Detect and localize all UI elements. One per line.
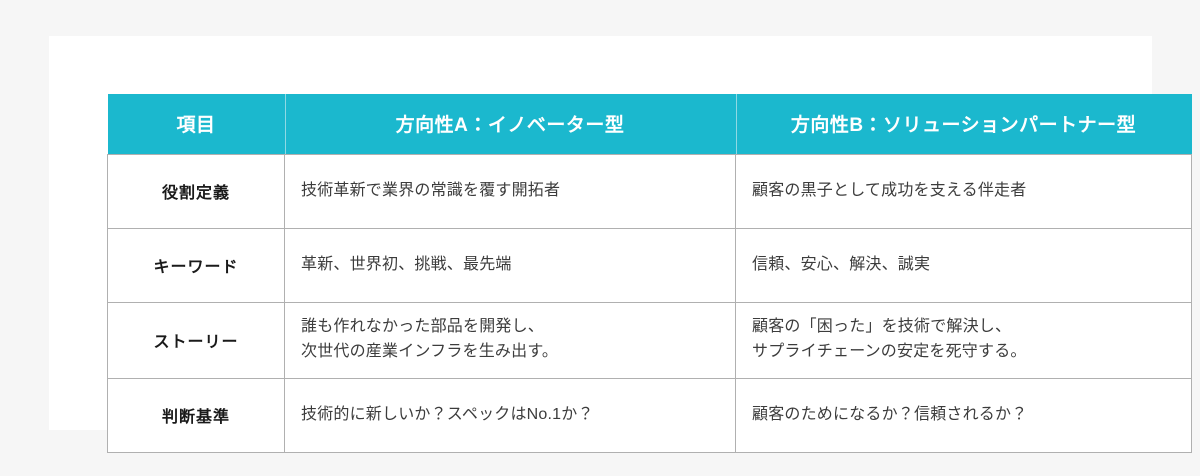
cell-story-a: 誰も作れなかった部品を開発し、 次世代の産業インフラを生み出す。 bbox=[285, 302, 736, 378]
row-label-role-definition: 役割定義 bbox=[108, 154, 285, 228]
comparison-table-container: 項目 方向性A：イノベーター型 方向性B：ソリューションパートナー型 役割定義 … bbox=[107, 94, 1191, 453]
table-row: 役割定義 技術革新で業界の常識を覆す開拓者 顧客の黒子として成功を支える伴走者 bbox=[108, 154, 1192, 228]
cell-line: 顧客のためになるか？信頼されるか？ bbox=[752, 403, 1175, 428]
column-header-direction-a: 方向性A：イノベーター型 bbox=[285, 94, 736, 154]
row-label-keyword: キーワード bbox=[108, 228, 285, 302]
table-header: 項目 方向性A：イノベーター型 方向性B：ソリューションパートナー型 bbox=[108, 94, 1192, 154]
cell-line: 誰も作れなかった部品を開発し、 bbox=[301, 315, 719, 340]
cell-line: 技術革新で業界の常識を覆す開拓者 bbox=[301, 179, 719, 204]
cell-judgement-criteria-b: 顧客のためになるか？信頼されるか？ bbox=[736, 378, 1192, 452]
column-header-direction-b: 方向性B：ソリューションパートナー型 bbox=[736, 94, 1192, 154]
cell-line: 技術的に新しいか？スペックはNo.1か？ bbox=[301, 403, 719, 428]
cell-keyword-a: 革新、世界初、挑戦、最先端 bbox=[285, 228, 736, 302]
cell-line: 革新、世界初、挑戦、最先端 bbox=[301, 253, 719, 278]
cell-keyword-b: 信頼、安心、解決、誠実 bbox=[736, 228, 1192, 302]
table-row: 判断基準 技術的に新しいか？スペックはNo.1か？ 顧客のためになるか？信頼され… bbox=[108, 378, 1192, 452]
content-card: 項目 方向性A：イノベーター型 方向性B：ソリューションパートナー型 役割定義 … bbox=[49, 36, 1152, 430]
cell-line: 顧客の「困った」を技術で解決し、 bbox=[752, 315, 1175, 340]
cell-line: 信頼、安心、解決、誠実 bbox=[752, 253, 1175, 278]
table-row: キーワード 革新、世界初、挑戦、最先端 信頼、安心、解決、誠実 bbox=[108, 228, 1192, 302]
row-label-judgement-criteria: 判断基準 bbox=[108, 378, 285, 452]
column-header-item: 項目 bbox=[108, 94, 285, 154]
cell-judgement-criteria-a: 技術的に新しいか？スペックはNo.1か？ bbox=[285, 378, 736, 452]
comparison-table: 項目 方向性A：イノベーター型 方向性B：ソリューションパートナー型 役割定義 … bbox=[107, 94, 1192, 453]
table-header-row: 項目 方向性A：イノベーター型 方向性B：ソリューションパートナー型 bbox=[108, 94, 1192, 154]
cell-line: 次世代の産業インフラを生み出す。 bbox=[301, 340, 719, 365]
table-row: ストーリー 誰も作れなかった部品を開発し、 次世代の産業インフラを生み出す。 顧… bbox=[108, 302, 1192, 378]
cell-role-definition-a: 技術革新で業界の常識を覆す開拓者 bbox=[285, 154, 736, 228]
cell-story-b: 顧客の「困った」を技術で解決し、 サプライチェーンの安定を死守する。 bbox=[736, 302, 1192, 378]
row-label-story: ストーリー bbox=[108, 302, 285, 378]
table-body: 役割定義 技術革新で業界の常識を覆す開拓者 顧客の黒子として成功を支える伴走者 … bbox=[108, 154, 1192, 452]
cell-line: 顧客の黒子として成功を支える伴走者 bbox=[752, 179, 1175, 204]
cell-line: サプライチェーンの安定を死守する。 bbox=[752, 340, 1175, 365]
cell-role-definition-b: 顧客の黒子として成功を支える伴走者 bbox=[736, 154, 1192, 228]
page-root: 項目 方向性A：イノベーター型 方向性B：ソリューションパートナー型 役割定義 … bbox=[0, 0, 1200, 476]
